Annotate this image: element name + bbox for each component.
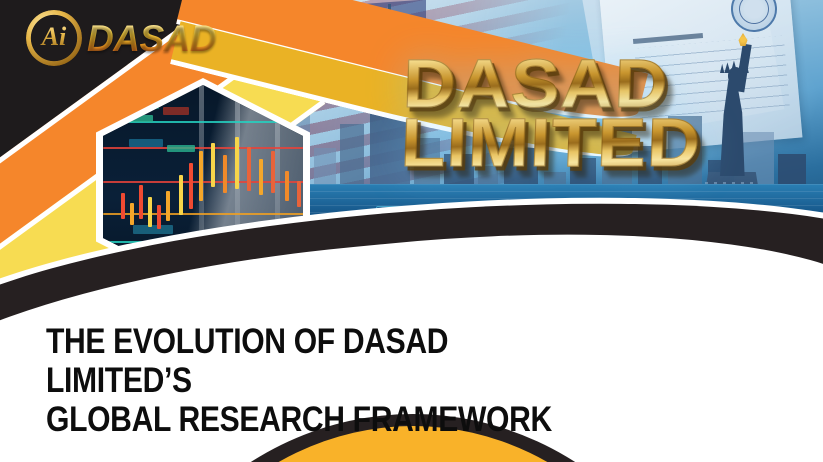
page-title-line-1: THE EVOLUTION OF DASAD LIMITED’S xyxy=(46,322,579,400)
hero-title: DASAD LIMITED xyxy=(400,52,724,175)
hero-title-line-2: LIMITED xyxy=(400,111,741,174)
quote-cell xyxy=(167,145,195,152)
candlestick xyxy=(271,151,275,193)
candlestick xyxy=(121,193,125,219)
candlestick xyxy=(199,151,203,201)
brand-logo-text: DASAD xyxy=(87,20,216,57)
candlestick xyxy=(166,191,170,221)
slide-canvas: ★ ★ ★ xyxy=(0,0,823,462)
chart-line xyxy=(103,147,303,149)
candlestick xyxy=(297,181,301,207)
candlestick xyxy=(130,203,134,225)
candlestick xyxy=(259,159,263,195)
candlestick xyxy=(139,185,143,219)
quote-cell xyxy=(163,107,189,115)
candlestick xyxy=(157,205,161,229)
candlestick xyxy=(285,171,289,201)
candlestick xyxy=(247,147,251,191)
ai-monogram-letters: Ai xyxy=(34,20,74,54)
page-title-line-2: GLOBAL RESEARCH FRAMEWORK xyxy=(46,400,579,439)
candlestick xyxy=(179,175,183,215)
quote-cell xyxy=(129,139,163,147)
page-title: THE EVOLUTION OF DASAD LIMITED’S GLOBAL … xyxy=(46,322,579,440)
candlestick xyxy=(235,137,239,189)
candlestick xyxy=(211,143,215,187)
quote-cell xyxy=(133,225,173,234)
candlestick xyxy=(223,155,227,193)
candlestick xyxy=(189,163,193,209)
candlestick xyxy=(148,197,152,227)
